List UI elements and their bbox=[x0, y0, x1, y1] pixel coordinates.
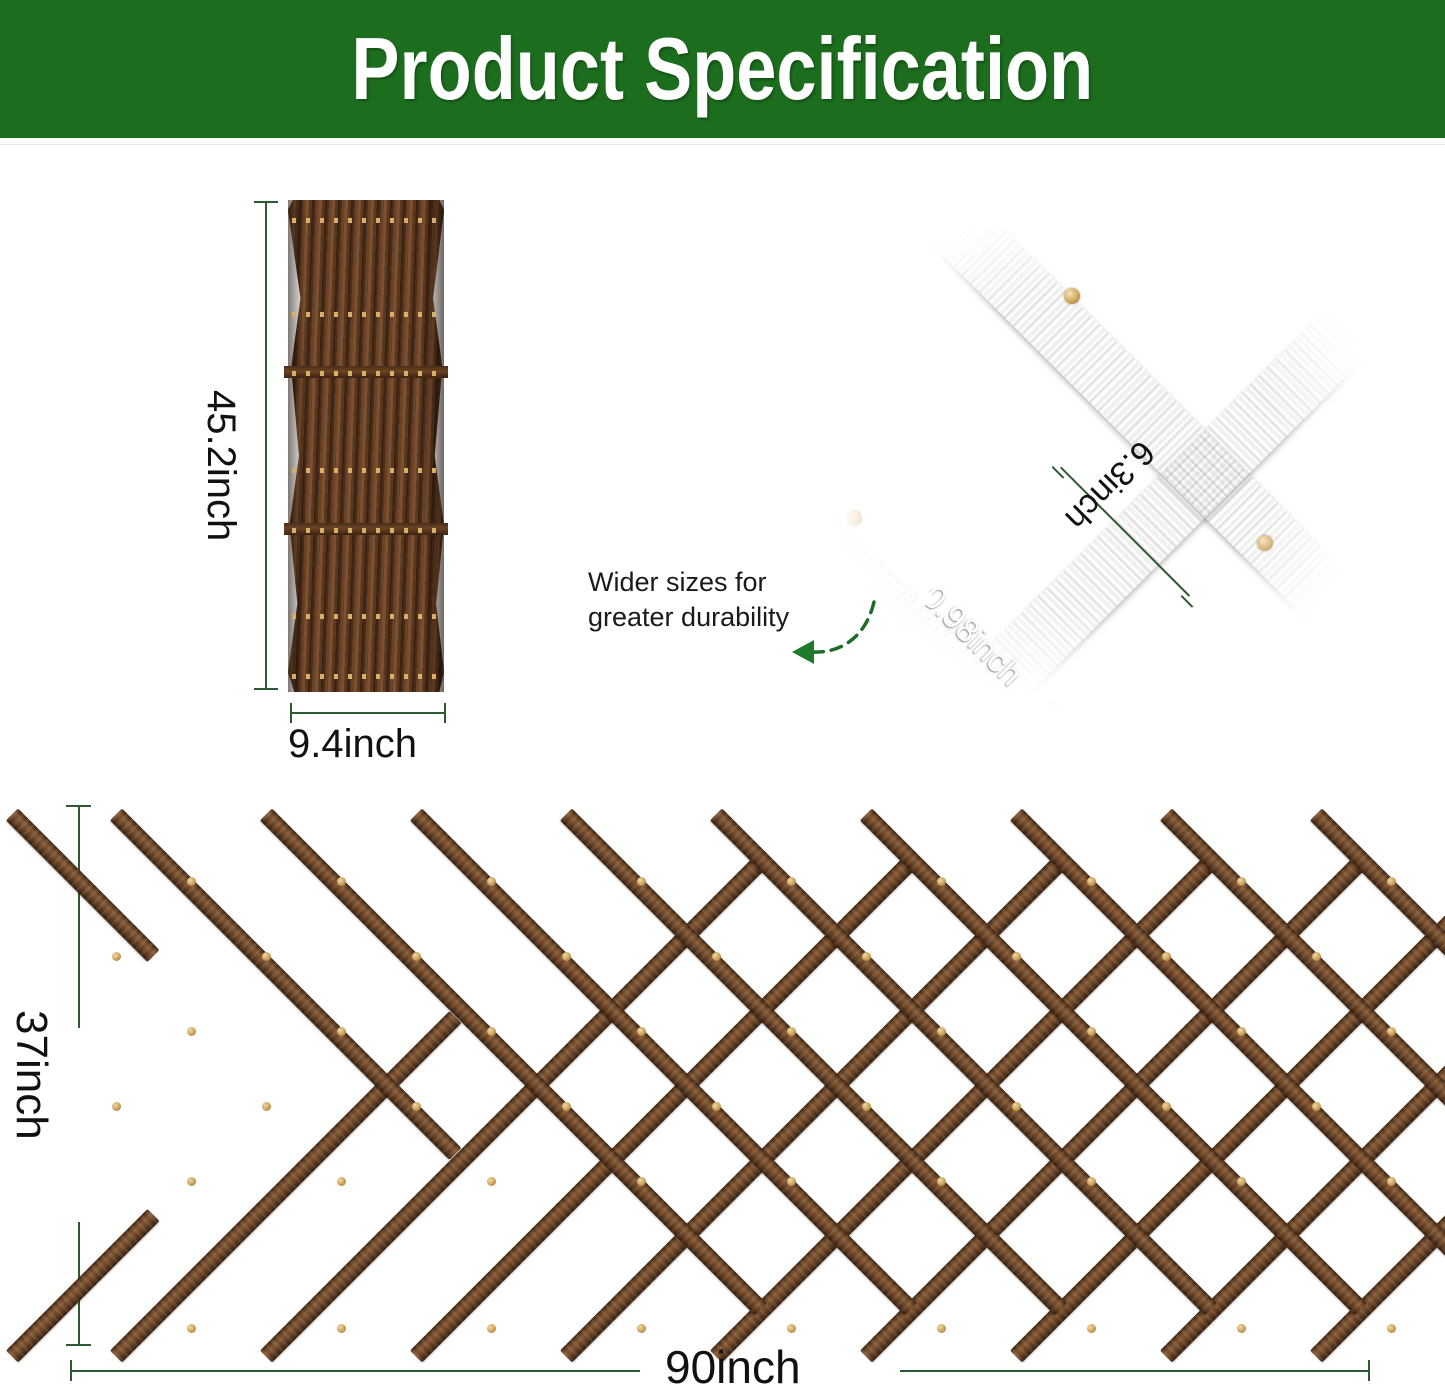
folded-trellis-image bbox=[288, 200, 444, 692]
lattice-rivet bbox=[1237, 877, 1246, 886]
folded-height-cap-bottom bbox=[254, 688, 278, 690]
rivet-row bbox=[292, 371, 440, 376]
rivet-row bbox=[292, 614, 440, 619]
folded-width-cap-right bbox=[444, 703, 446, 723]
expanded-height-cap-top bbox=[66, 805, 91, 807]
lattice-rivet bbox=[637, 1027, 646, 1036]
lattice-rivet bbox=[112, 952, 121, 961]
lattice-rivet bbox=[937, 1177, 946, 1186]
folded-height-label: 45.2inch bbox=[198, 390, 243, 541]
lattice-rivet bbox=[1237, 1027, 1246, 1036]
lattice-rivet bbox=[787, 1027, 796, 1036]
rivet-row bbox=[292, 528, 440, 533]
lattice-slat-descending bbox=[410, 808, 917, 1315]
lattice-slat-descending bbox=[710, 808, 1217, 1315]
callout-arrow-icon bbox=[770, 596, 880, 666]
lattice-rivet bbox=[337, 1027, 346, 1036]
lattice-rivet bbox=[1312, 952, 1321, 961]
closeup-rivet bbox=[1064, 288, 1080, 304]
lattice-slat-descending bbox=[110, 808, 461, 1159]
lattice-rivet bbox=[787, 1177, 796, 1186]
lattice-rivet bbox=[1162, 1102, 1171, 1111]
rivet-row bbox=[292, 468, 440, 473]
lattice-rivet bbox=[712, 952, 721, 961]
folded-width-cap-left bbox=[290, 703, 292, 723]
expanded-height-cap-bottom bbox=[66, 1344, 91, 1346]
lattice-rivet bbox=[562, 1102, 571, 1111]
lattice-slat-descending bbox=[260, 808, 767, 1315]
lattice-rivet bbox=[1162, 952, 1171, 961]
expanded-width-cap-left bbox=[70, 1360, 72, 1381]
lattice-rivet bbox=[262, 952, 271, 961]
lattice-rivet bbox=[1087, 1177, 1096, 1186]
expanded-width-label: 90inch bbox=[665, 1340, 801, 1394]
expanded-trellis-image bbox=[108, 806, 1408, 1348]
lattice-rivet bbox=[937, 1324, 946, 1333]
lattice-rivet bbox=[1087, 1027, 1096, 1036]
product-specification-page: Product Specification 45.2inch 9.4in bbox=[0, 0, 1445, 1400]
expanded-width-dimension-line-right bbox=[900, 1370, 1370, 1372]
header-divider bbox=[0, 138, 1445, 145]
lattice-rivet bbox=[412, 1102, 421, 1111]
lattice-rivet bbox=[937, 877, 946, 886]
closeup-rivet bbox=[1257, 535, 1273, 551]
lattice-rivet bbox=[1087, 1324, 1096, 1333]
rivet-row bbox=[292, 674, 440, 679]
lattice-rivet bbox=[1012, 952, 1021, 961]
expanded-width-dimension-line-left bbox=[70, 1370, 640, 1372]
lattice-rivet bbox=[637, 877, 646, 886]
lattice-rivet bbox=[862, 1102, 871, 1111]
lattice-rivet bbox=[487, 1324, 496, 1333]
folded-height-cap-top bbox=[254, 201, 278, 203]
lattice-rivet bbox=[337, 877, 346, 886]
lattice-rivet bbox=[637, 1177, 646, 1186]
lattice-slat-descending bbox=[560, 808, 1067, 1315]
lattice-rivet bbox=[937, 1027, 946, 1036]
lattice-slat-ascending bbox=[110, 1011, 461, 1362]
folded-height-dimension-line bbox=[265, 202, 267, 690]
closeup-rivet bbox=[1042, 700, 1058, 716]
lattice-rivet bbox=[1237, 1177, 1246, 1186]
lattice-rivet bbox=[187, 1324, 196, 1333]
rivet-row bbox=[292, 218, 440, 223]
lattice-rivet bbox=[1387, 1177, 1396, 1186]
lattice-rivet bbox=[1387, 1027, 1396, 1036]
lattice-rivet bbox=[1387, 1324, 1396, 1333]
lattice-rivet bbox=[337, 1177, 346, 1186]
lattice-rivet bbox=[562, 952, 571, 961]
cell-dimension-cap-bottom bbox=[1181, 595, 1194, 608]
expanded-height-label: 37inch bbox=[6, 1010, 56, 1140]
callout-line-1: Wider sizes for bbox=[588, 565, 858, 600]
lattice-rivet bbox=[1237, 1324, 1246, 1333]
lattice-rivet bbox=[787, 1324, 796, 1333]
header-banner: Product Specification bbox=[0, 0, 1445, 138]
lattice-rivet bbox=[487, 1177, 496, 1186]
lattice-rivet bbox=[262, 1102, 271, 1111]
folded-width-label: 9.4inch bbox=[288, 722, 417, 767]
folded-width-dimension-line bbox=[290, 712, 446, 714]
lattice-rivet bbox=[862, 952, 871, 961]
lattice-rivet bbox=[1087, 877, 1096, 886]
lattice-rivet bbox=[712, 1102, 721, 1111]
lattice-rivet bbox=[487, 877, 496, 886]
lattice-rivet bbox=[1387, 877, 1396, 886]
lattice-rivet bbox=[337, 1324, 346, 1333]
page-title: Product Specification bbox=[352, 25, 1094, 113]
closeup-rivet bbox=[846, 510, 862, 526]
slat-width-arrow-icon bbox=[912, 550, 982, 620]
lattice-rivet bbox=[412, 952, 421, 961]
lattice-rivet bbox=[1312, 1102, 1321, 1111]
lattice-rivet bbox=[787, 877, 796, 886]
lattice-rivet bbox=[187, 877, 196, 886]
lattice-rivet bbox=[487, 1027, 496, 1036]
lattice-slat-descending bbox=[860, 808, 1367, 1315]
expanded-width-cap-right bbox=[1368, 1360, 1370, 1381]
lattice-rivet bbox=[1012, 1102, 1021, 1111]
lattice-rivet bbox=[187, 1177, 196, 1186]
expanded-height-dimension-line-top bbox=[78, 806, 80, 1028]
rivet-row bbox=[292, 312, 440, 317]
lattice-rivet bbox=[637, 1324, 646, 1333]
lattice-rivet bbox=[112, 1102, 121, 1111]
lattice-rivet bbox=[187, 1027, 196, 1036]
